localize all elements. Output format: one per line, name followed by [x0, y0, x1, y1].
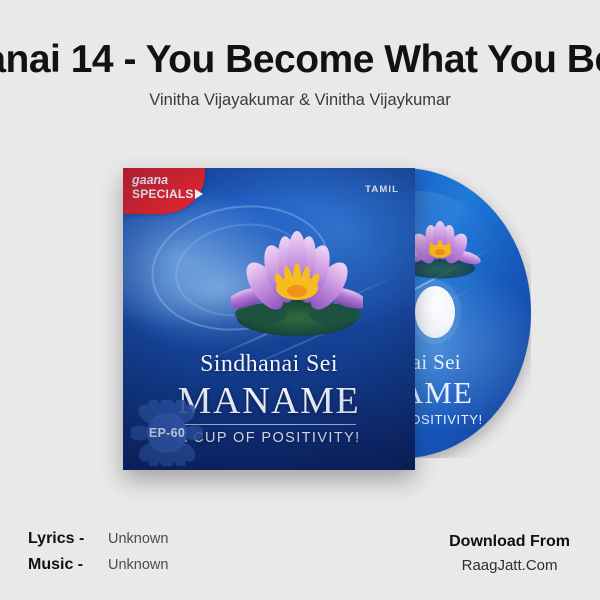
title-divider — [182, 424, 356, 425]
gaana-specials-label: SPECIALS — [132, 187, 205, 201]
cd-disc-title-line1: nai Sei — [401, 350, 531, 375]
page-title: anai 14 - You Become What You Be — [0, 36, 600, 84]
credit-label: Lyrics - — [28, 530, 102, 548]
language-tag: TAMIL — [365, 184, 399, 195]
download-site[interactable]: RaagJatt.Com — [449, 554, 570, 578]
credits-list: Lyrics - Unknown Music - Unknown — [28, 530, 168, 582]
gaana-specials-badge[interactable]: gaana SPECIALS — [123, 168, 205, 214]
album-artwork: nai Sei AME POSITIVITY! — [0, 150, 600, 500]
lotus-flower-icon — [231, 230, 363, 342]
cd-disc-title-line2: AME — [401, 375, 531, 411]
cd-disc-center-hole — [415, 286, 455, 338]
credit-value: Unknown — [108, 531, 168, 547]
credit-value: Unknown — [108, 557, 168, 573]
cover-title-line1: Sindhanai Sei — [123, 350, 415, 379]
play-triangle-icon — [195, 189, 203, 199]
episode-badge-label: EP-60 — [131, 400, 203, 466]
cd-disc-text: nai Sei AME POSITIVITY! — [401, 350, 531, 429]
episode-badge: EP-60 — [131, 400, 203, 466]
song-header: anai 14 - You Become What You Be Vinitha… — [0, 0, 600, 130]
artist-names: Vinitha Vijayakumar & Vinitha Vijaykumar — [149, 89, 450, 111]
metadata-footer: Lyrics - Unknown Music - Unknown Downloa… — [0, 520, 600, 600]
download-block: Download From RaagJatt.Com — [449, 530, 570, 578]
specials-text: SPECIALS — [132, 187, 194, 201]
credit-row-lyrics: Lyrics - Unknown — [28, 530, 168, 556]
credit-row-music: Music - Unknown — [28, 556, 168, 582]
album-cover: gaana SPECIALS TAMIL Sindhanai Sei MANAM… — [123, 168, 415, 470]
gaana-brand-label: gaana — [132, 173, 205, 187]
cd-disc-tagline: POSITIVITY! — [401, 411, 531, 429]
download-title: Download From — [449, 530, 570, 554]
credit-label: Music - — [28, 556, 102, 574]
